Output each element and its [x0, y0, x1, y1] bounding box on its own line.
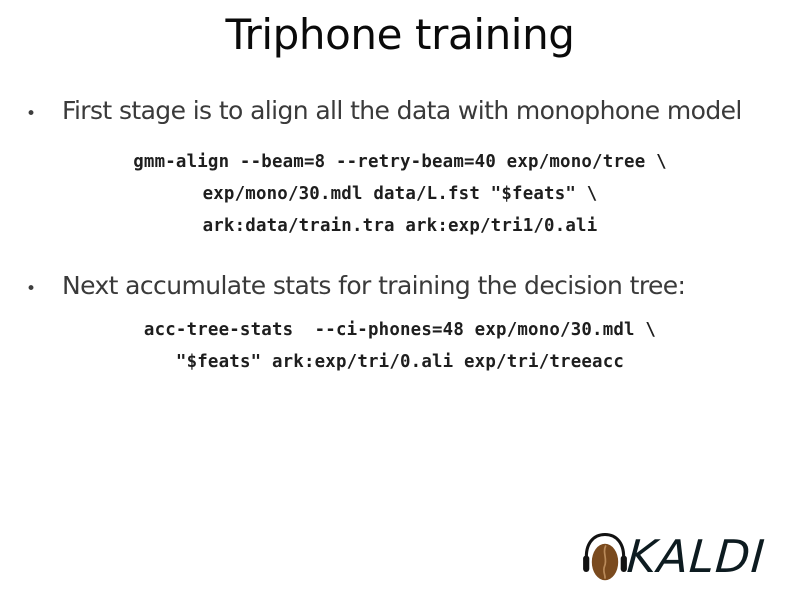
code-line: exp/mono/30.mdl data/L.fst "$feats" \ [0, 178, 800, 210]
code-line: gmm-align --beam=8 --retry-beam=40 exp/m… [0, 146, 800, 178]
code-block-gmm-align: gmm-align --beam=8 --retry-beam=40 exp/m… [0, 146, 800, 242]
bullet-marker-icon: • [26, 99, 62, 129]
kaldi-wordmark: KALDI [625, 534, 767, 580]
code-block-acc-tree-stats: acc-tree-stats --ci-phones=48 exp/mono/3… [0, 314, 800, 378]
code-line: ark:data/train.tra ark:exp/tri1/0.ali [0, 210, 800, 242]
bullet-item-2: • Next accumulate stats for training the… [26, 271, 774, 304]
slide-canvas: Triphone training • First stage is to al… [0, 0, 800, 599]
bullet-text-2: Next accumulate stats for training the d… [62, 271, 774, 301]
code-line: acc-tree-stats --ci-phones=48 exp/mono/3… [0, 314, 800, 346]
bullet-item-1: • First stage is to align all the data w… [26, 96, 774, 129]
coffee-bean-headphones-icon [580, 529, 630, 585]
kaldi-logo: KALDI [580, 528, 790, 586]
page-title: Triphone training [0, 8, 800, 62]
code-line: "$feats" ark:exp/tri/0.ali exp/tri/treea… [0, 346, 800, 378]
bullet-marker-icon: • [26, 274, 62, 304]
bullet-text-1: First stage is to align all the data wit… [62, 96, 774, 126]
